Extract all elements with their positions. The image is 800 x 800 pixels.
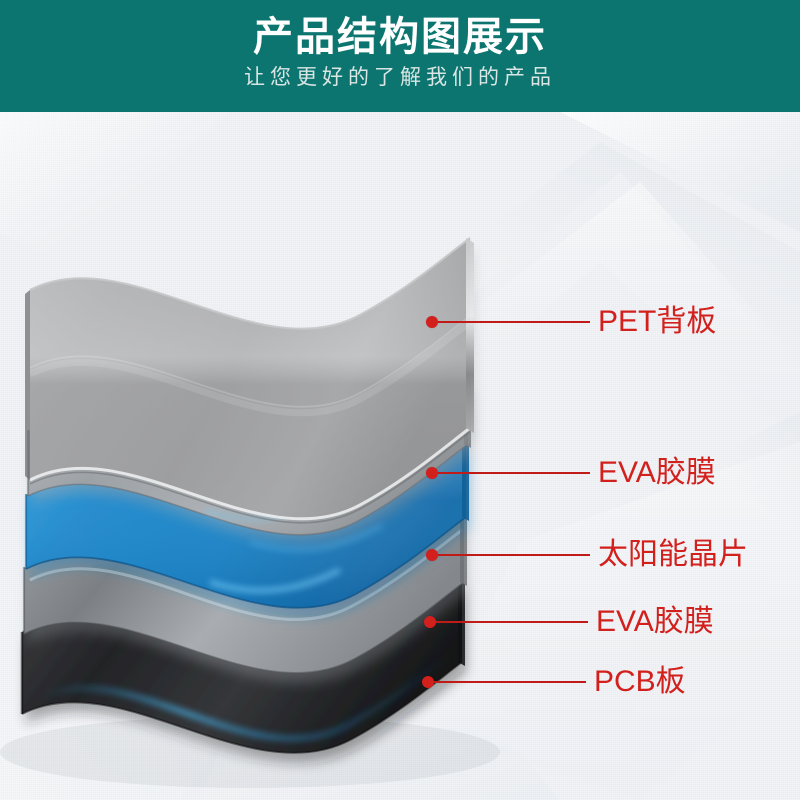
- callout-label-solar-cell: 太阳能晶片: [598, 540, 748, 570]
- callout-dot-icon: [426, 467, 438, 479]
- callout-dot-icon: [426, 549, 438, 561]
- callout-leader-line: [438, 472, 590, 474]
- callout-leader-line: [434, 681, 586, 683]
- callout-label-eva-lower: EVA胶膜: [596, 607, 714, 637]
- callout-eva-upper: EVA胶膜: [426, 458, 716, 488]
- callout-dot-icon: [422, 676, 434, 688]
- callout-leader-line: [438, 321, 590, 323]
- page-title: 产品结构图展示: [253, 12, 547, 62]
- callout-solar-cell: 太阳能晶片: [426, 540, 748, 570]
- page-subtitle: 让您更好的了解我们的产品: [244, 63, 556, 93]
- callout-pcb: PCB板: [422, 667, 686, 697]
- callout-dot-icon: [426, 316, 438, 328]
- callout-dot-icon: [424, 616, 436, 628]
- callout-label-pet: PET背板: [598, 307, 716, 337]
- callout-eva-lower: EVA胶膜: [424, 607, 714, 637]
- product-structure-infographic: 产品结构图展示 让您更好的了解我们的产品 PET背板 EVA胶膜 太阳能晶片 E…: [0, 0, 800, 800]
- callout-leader-line: [436, 621, 588, 623]
- callout-label-pcb: PCB板: [594, 667, 686, 697]
- callout-pet-backsheet: PET背板: [426, 307, 716, 337]
- callout-leader-line: [438, 554, 590, 556]
- page-header: 产品结构图展示 让您更好的了解我们的产品: [0, 0, 800, 112]
- callout-label-eva-upper: EVA胶膜: [598, 458, 716, 488]
